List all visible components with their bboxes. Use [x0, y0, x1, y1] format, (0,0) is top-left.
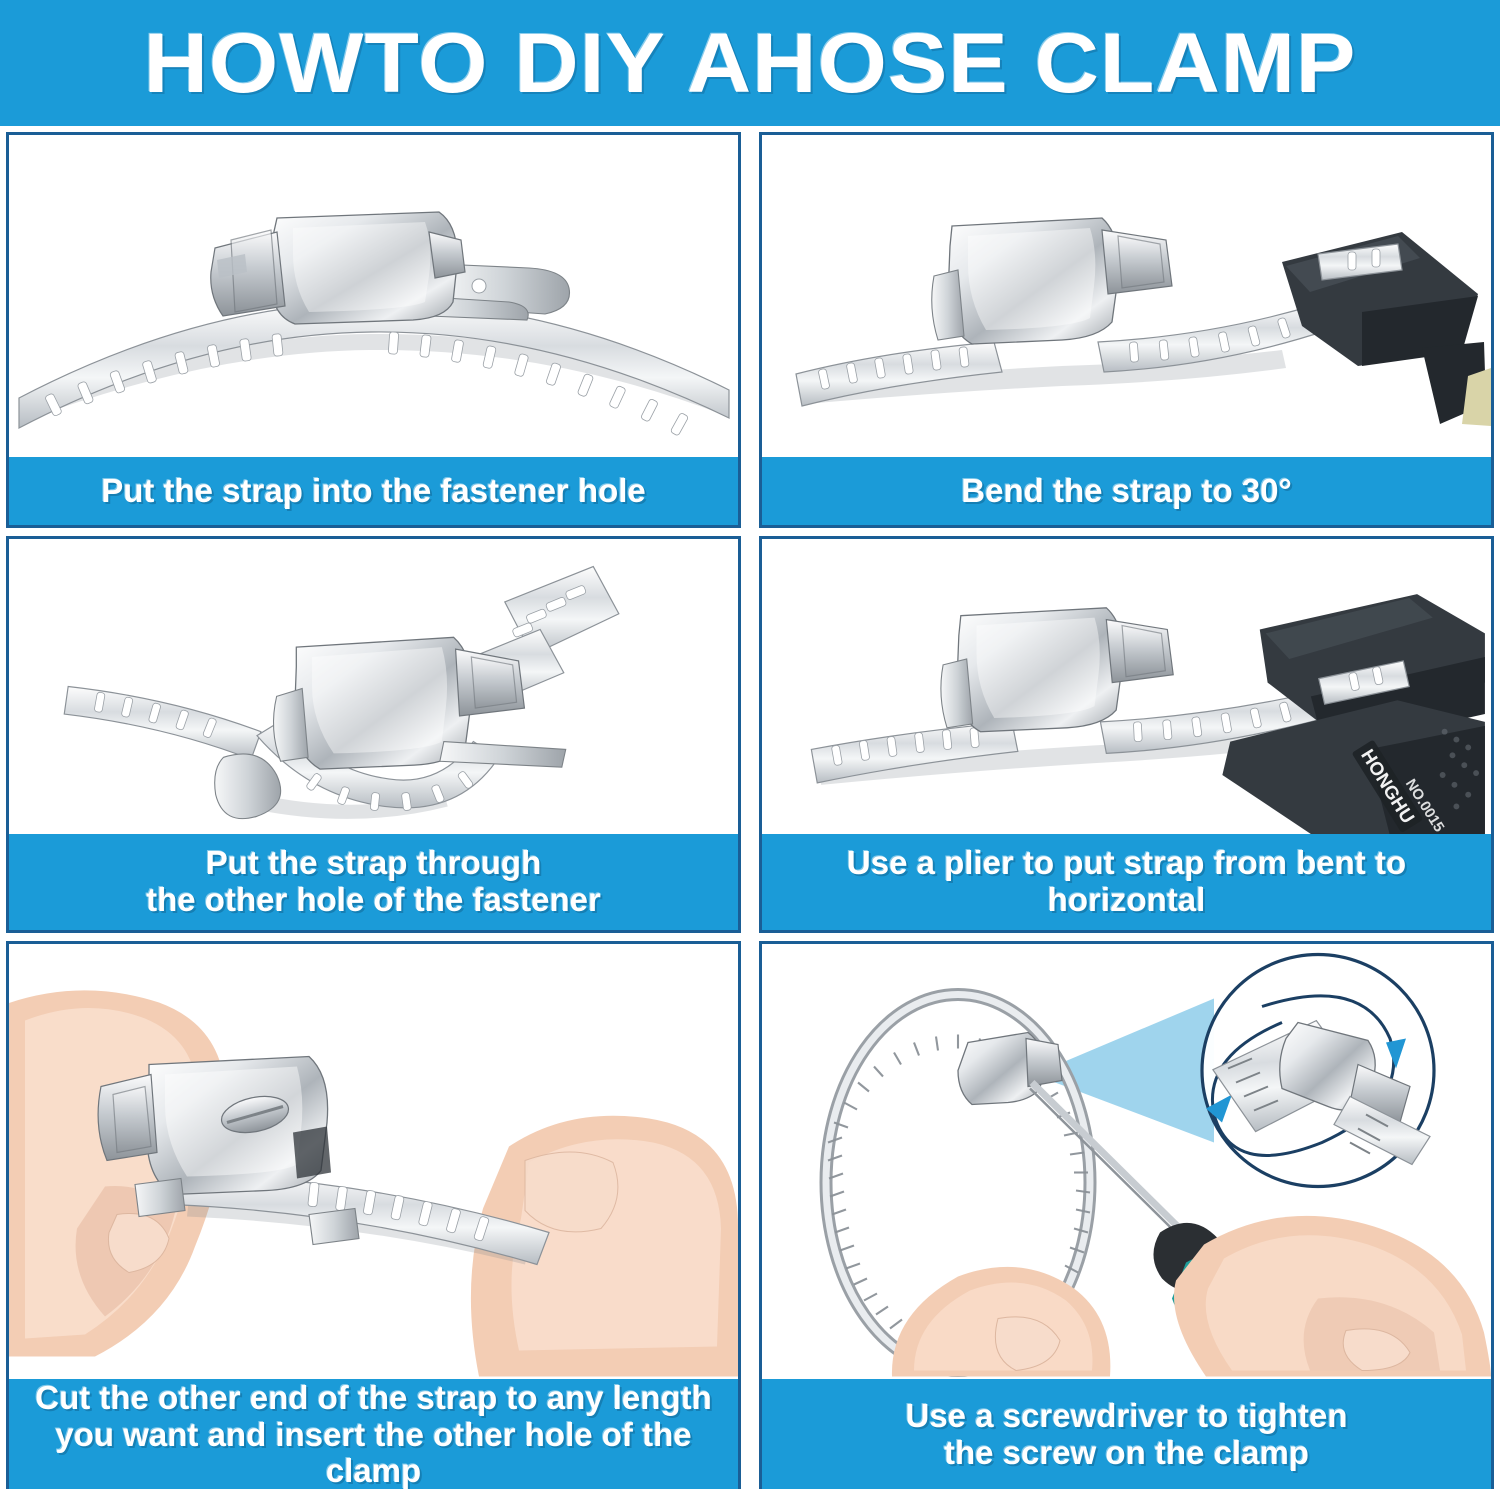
step-5-caption-line-1: Cut the other end of the strap to any le… [35, 1379, 712, 1416]
step-3-caption: Put the strap through the other hole of … [9, 834, 738, 930]
step-panel-2: Bend the strap to 30° [759, 132, 1494, 528]
hose-clamp-illustration [9, 135, 738, 457]
clamp-loop-illustration [9, 539, 738, 834]
step-2-photo [762, 135, 1491, 457]
step-1-caption: Put the strap into the fastener hole [9, 457, 738, 525]
hand-gripping-screwdriver [1174, 1216, 1491, 1377]
step-2-caption: Bend the strap to 30° [762, 457, 1491, 525]
fingers-holding-clamp-illustration [9, 944, 738, 1379]
infographic-page: HOWTO DIY AHOSE CLAMP [0, 0, 1500, 1489]
step-panel-4: HONGHU NO.0015 [759, 536, 1494, 933]
steps-grid: Put the strap into the fastener hole [6, 132, 1494, 1484]
plier-flatten-illustration: HONGHU NO.0015 [762, 539, 1491, 834]
step-panel-6: Use a screwdriver to tighten the screw o… [759, 941, 1494, 1489]
step-1-photo [9, 135, 738, 457]
step-panel-1: Put the strap into the fastener hole [6, 132, 741, 528]
step-3-photo [9, 539, 738, 834]
step-5-photo [9, 944, 738, 1379]
page-title-bar: HOWTO DIY AHOSE CLAMP [0, 0, 1500, 126]
step-3-caption-line-2: the other hole of the fastener [146, 881, 601, 918]
magnified-inset [1202, 955, 1434, 1187]
step-5-caption-line-2: you want and insert the other hole of th… [55, 1416, 691, 1489]
step-4-photo: HONGHU NO.0015 [762, 539, 1491, 834]
step-panel-5: Cut the other end of the strap to any le… [6, 941, 741, 1489]
clamp-bend-illustration [762, 135, 1491, 457]
step-6-caption: Use a screwdriver to tighten the screw o… [762, 1379, 1491, 1489]
hand-holding-ring [892, 1267, 1110, 1377]
step-5-caption: Cut the other end of the strap to any le… [9, 1379, 738, 1489]
screwdriver-tighten-illustration [762, 944, 1491, 1379]
step-3-caption-line-1: Put the strap through [206, 844, 541, 881]
step-6-caption-line-1: Use a screwdriver to tighten [906, 1397, 1348, 1434]
step-6-photo [762, 944, 1491, 1379]
step-6-caption-line-2: the screw on the clamp [944, 1434, 1309, 1471]
page-title: HOWTO DIY AHOSE CLAMP [144, 21, 1357, 105]
step-panel-3: Put the strap through the other hole of … [6, 536, 741, 933]
step-4-caption: Use a plier to put strap from bent to ho… [762, 834, 1491, 930]
